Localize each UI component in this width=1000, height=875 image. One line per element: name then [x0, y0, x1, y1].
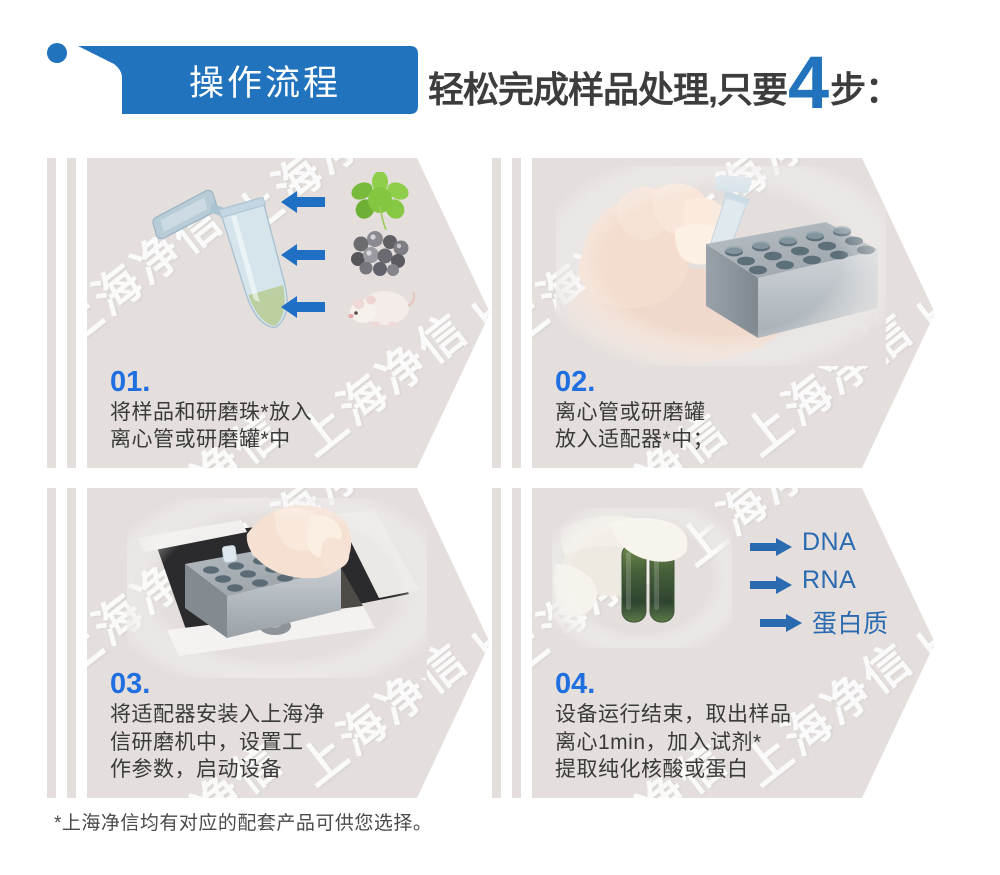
step-card-body: 上海净信 上海净信 上海净信 上海净信 上海净信: [87, 488, 490, 798]
page-header: 操作流程 轻松完成样品处理,只要 4 步：: [0, 0, 1000, 140]
arrow-right-icon: [760, 614, 802, 632]
step-card-04: 上海净信 上海净信 上海净信 上海净信 上海净信: [492, 488, 935, 798]
leaf-icon: [349, 172, 411, 232]
grinder-installation-photo: [127, 498, 427, 678]
card-accent-bar: [492, 158, 501, 468]
headline-step-count: 4: [788, 53, 829, 112]
step-04-text: 04. 设备运行结束，取出样品 离心1min，加入试剂* 提取纯化核酸或蛋白: [555, 669, 885, 784]
section-badge-shape: [70, 46, 418, 114]
output-label-protein: 蛋白质: [812, 604, 889, 640]
arrow-left-icon: [281, 191, 325, 213]
step-description: 将样品和研磨珠*放入 离心管或研磨罐*中: [110, 399, 440, 454]
step-04-illustration: [552, 508, 732, 648]
arrow-left-icon: [281, 296, 325, 318]
step-description: 设备运行结束，取出样品 离心1min，加入试剂* 提取纯化核酸或蛋白: [555, 701, 885, 784]
step-number: 03.: [110, 669, 440, 699]
arrow-left-icon: [281, 244, 325, 266]
grinding-beads-icon: [349, 228, 411, 278]
card-accent-bar: [47, 158, 56, 468]
gloved-hand-tubes-photo: [552, 508, 732, 648]
hand-with-adapter-block-photo: [556, 166, 886, 366]
step-number: 04.: [555, 669, 885, 699]
headline: 轻松完成样品处理,只要 4 步：: [428, 47, 900, 117]
step-number: 02.: [555, 367, 885, 397]
step-03-text: 03. 将适配器安装入上海净 信研磨机中，设置工 作参数，启动设备: [110, 669, 440, 784]
card-accent-bar: [512, 488, 521, 798]
step-02-illustration: [556, 166, 886, 366]
step-03-illustration: [127, 498, 427, 678]
step-card-01: 上海净信 上海净信 上海净信 上海净信 上海净信: [47, 158, 490, 468]
step-02-text: 02. 离心管或研磨罐 放入适配器*中；: [555, 367, 885, 454]
step-description: 将适配器安装入上海净 信研磨机中，设置工 作参数，启动设备: [110, 701, 440, 784]
headline-prefix: 轻松完成样品处理,只要: [428, 61, 787, 113]
badge-dot-icon: [47, 43, 67, 63]
card-accent-bar: [492, 488, 501, 798]
step-card-body: 上海净信 上海净信 上海净信 上海净信 上海净信: [532, 158, 935, 468]
step-card-02: 上海净信 上海净信 上海净信 上海净信 上海净信: [492, 158, 935, 468]
output-label-dna: DNA: [802, 528, 856, 557]
card-accent-bar: [67, 488, 76, 798]
arrow-right-icon: [750, 576, 792, 594]
step-card-body: 上海净信 上海净信 上海净信 上海净信 上海净信: [87, 158, 490, 468]
footer-note: *上海净信均有对应的配套产品可供您选择。: [54, 808, 432, 835]
step-01-text: 01. 将样品和研磨珠*放入 离心管或研磨罐*中: [110, 367, 440, 454]
step-01-illustration: [87, 158, 490, 358]
headline-suffix: 步：: [830, 61, 900, 113]
card-accent-bar: [67, 158, 76, 468]
step-number: 01.: [110, 367, 440, 397]
step-description: 离心管或研磨罐 放入适配器*中；: [555, 399, 885, 454]
mouse-icon: [345, 280, 415, 332]
step-card-body: 上海净信 上海净信 上海净信 上海净信 上海净信: [532, 488, 935, 798]
arrow-right-icon: [750, 538, 792, 556]
centrifuge-tube-icon: [145, 182, 295, 357]
output-label-rna: RNA: [802, 566, 856, 595]
card-accent-bar: [47, 488, 56, 798]
card-accent-bar: [512, 158, 521, 468]
step-card-03: 上海净信 上海净信 上海净信 上海净信 上海净信: [47, 488, 490, 798]
